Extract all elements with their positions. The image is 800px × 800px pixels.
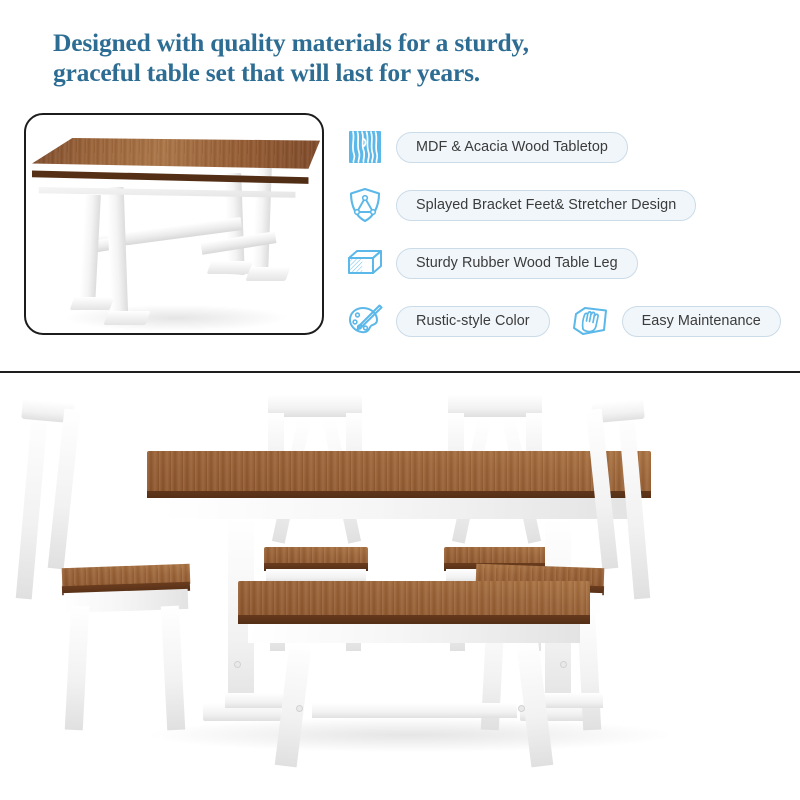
- paint-palette-icon: [346, 302, 384, 340]
- feature-row: MDF & Acacia Wood Tabletop: [346, 118, 786, 176]
- bench-screw-left: [296, 705, 303, 712]
- feature-row: Sturdy Rubber Wood Table Leg: [346, 234, 786, 292]
- feature-row-split: Rustic-style Color Easy Maintenance: [346, 292, 786, 350]
- bench-seat-surface: [238, 581, 590, 615]
- wood-grain-icon: [346, 128, 384, 166]
- chair-back-post: [16, 409, 48, 600]
- dining-set-photo: [0, 373, 800, 800]
- product-feature-page: Designed with quality materials for a st…: [0, 0, 800, 800]
- feature-list: MDF & Acacia Wood Tabletop Splayed Brack…: [346, 118, 786, 350]
- inset-table-foot-rear-b: [245, 267, 290, 281]
- feature-pill[interactable]: Easy Maintenance: [622, 306, 781, 337]
- table-screw-right: [560, 661, 567, 668]
- chair-rear-leg: [65, 606, 89, 731]
- headline-line-2: graceful table set that will last for ye…: [53, 58, 753, 88]
- bench-stretcher: [312, 703, 517, 718]
- inset-table-leg-front-left: [79, 195, 101, 305]
- wood-beam-icon: [346, 244, 384, 282]
- feature-row: Splayed Bracket Feet& Stretcher Design: [346, 176, 786, 234]
- table-screw-left: [234, 661, 241, 668]
- inset-table-illustration: [26, 115, 322, 333]
- feature-pill[interactable]: Rustic-style Color: [396, 306, 550, 337]
- page-title: Designed with quality materials for a st…: [53, 28, 753, 88]
- feature-pill[interactable]: MDF & Acacia Wood Tabletop: [396, 132, 628, 163]
- bench-screw-right: [518, 705, 525, 712]
- chair-back-post-outer: [48, 409, 81, 570]
- bench-foot-left: [225, 693, 283, 708]
- cleaning-hand-icon: [572, 302, 610, 340]
- chair-front-leg: [161, 606, 185, 731]
- feature-pill[interactable]: Sturdy Rubber Wood Table Leg: [396, 248, 638, 279]
- product-inset-card: [24, 113, 324, 335]
- bench-apron: [248, 623, 580, 643]
- headline-line-1: Designed with quality materials for a st…: [53, 28, 753, 58]
- feature-pill[interactable]: Splayed Bracket Feet& Stretcher Design: [396, 190, 696, 221]
- inset-table-foot-front-b: [103, 311, 150, 325]
- tabletop-surface: [147, 451, 651, 491]
- inset-table-foot-front-a: [70, 297, 115, 310]
- bench-foot-right: [545, 693, 603, 708]
- shield-icon: [346, 186, 384, 224]
- table-apron: [161, 497, 637, 519]
- inset-table-foot-rear-a: [207, 261, 254, 274]
